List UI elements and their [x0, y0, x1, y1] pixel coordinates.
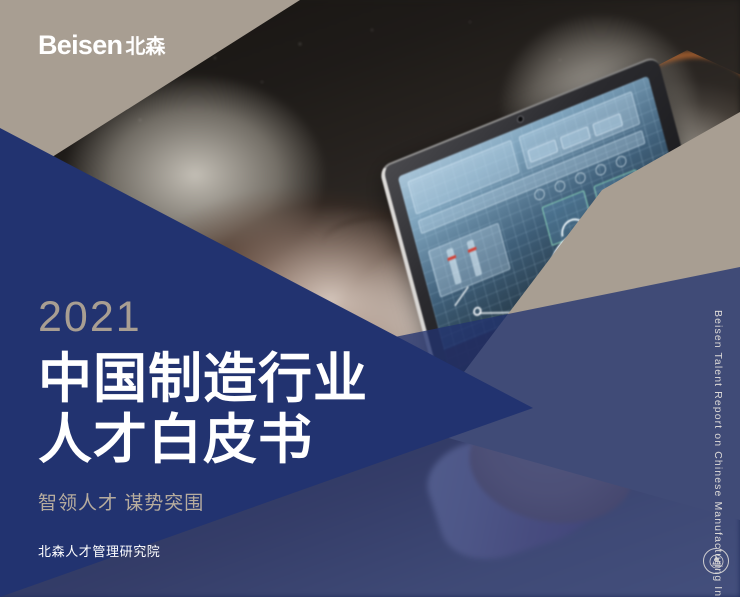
institute-seal-icon: [703, 548, 729, 574]
cover-title-line-1: 中国制造行业: [38, 349, 368, 410]
logo-cjk-text: 北森: [123, 37, 165, 57]
cover-title-line-2: 人才白皮书: [38, 410, 368, 471]
report-cover-page: Beisen 北森 2021 中国制造行业 人才白皮书 智领人才 谋势突围 北森…: [0, 0, 740, 597]
cover-title-block: 2021 中国制造行业 人才白皮书 智领人才 谋势突围: [38, 296, 368, 515]
cover-subtitle: 智领人才 谋势突围: [38, 488, 368, 515]
beisen-logo[interactable]: Beisen 北森: [38, 32, 165, 59]
logo-latin-text: Beisen: [38, 32, 122, 59]
cover-year: 2021: [38, 296, 368, 339]
cover-organization: 北森人才管理研究院: [38, 541, 160, 560]
